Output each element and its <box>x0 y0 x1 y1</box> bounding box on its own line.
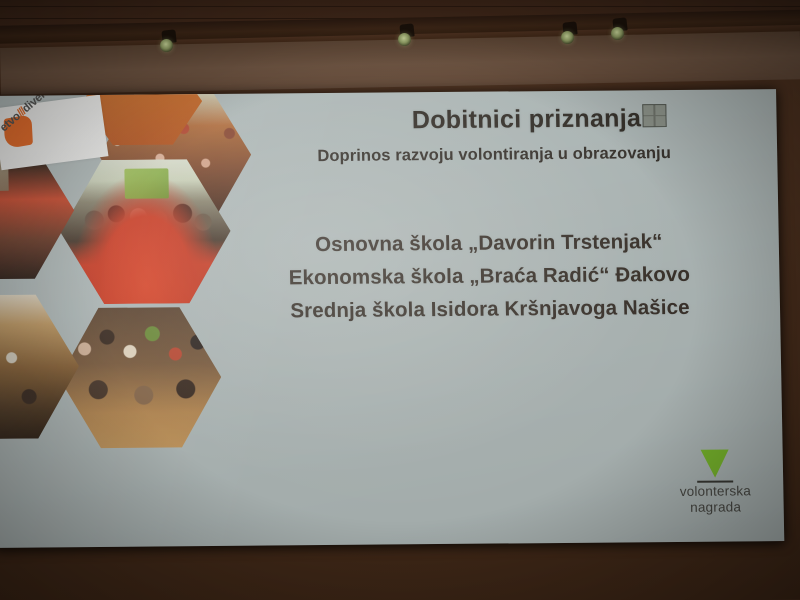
spotlight-icon <box>398 24 416 46</box>
slide-subtitle: Doprinos razvoju volontiranja u obrazova… <box>249 143 739 166</box>
green-triangle-icon <box>665 449 766 484</box>
slide-title: Dobitnici priznanja <box>316 103 737 136</box>
spotlight-icon <box>561 22 579 44</box>
collage-hex-photo <box>0 291 80 442</box>
auditorium-scene: etvo///diversity Dobitnici priznanja Dop… <box>0 0 800 600</box>
collage-hex-photo <box>58 304 223 451</box>
winners-list: Osnovna škola „Davorin Trstenjak“ Ekonom… <box>228 224 750 328</box>
winner-item: Srednja škola Isidora Kršnjavoga Našice <box>230 290 751 328</box>
winner-item: Osnovna škola „Davorin Trstenjak“ <box>228 224 749 262</box>
volonterska-nagrada-logo: volonterska nagrada <box>665 449 766 516</box>
ceiling-seam <box>0 6 800 7</box>
window-reflection-artifact <box>642 104 666 127</box>
spotlight-icon <box>160 30 178 52</box>
festival-diversity-logo: etvo///diversity <box>0 95 108 171</box>
projection-screen: etvo///diversity Dobitnici priznanja Dop… <box>0 89 784 548</box>
winner-item: Ekonomska škola „Braća Radić“ Đakovo <box>229 257 750 295</box>
award-logo-line2: nagrada <box>666 499 766 516</box>
award-logo-line1: volonterska <box>665 483 765 500</box>
festival-diversity-label: etvo///diversity <box>0 89 87 134</box>
spotlight-icon <box>611 18 629 40</box>
slide: etvo///diversity Dobitnici priznanja Dop… <box>0 89 784 548</box>
